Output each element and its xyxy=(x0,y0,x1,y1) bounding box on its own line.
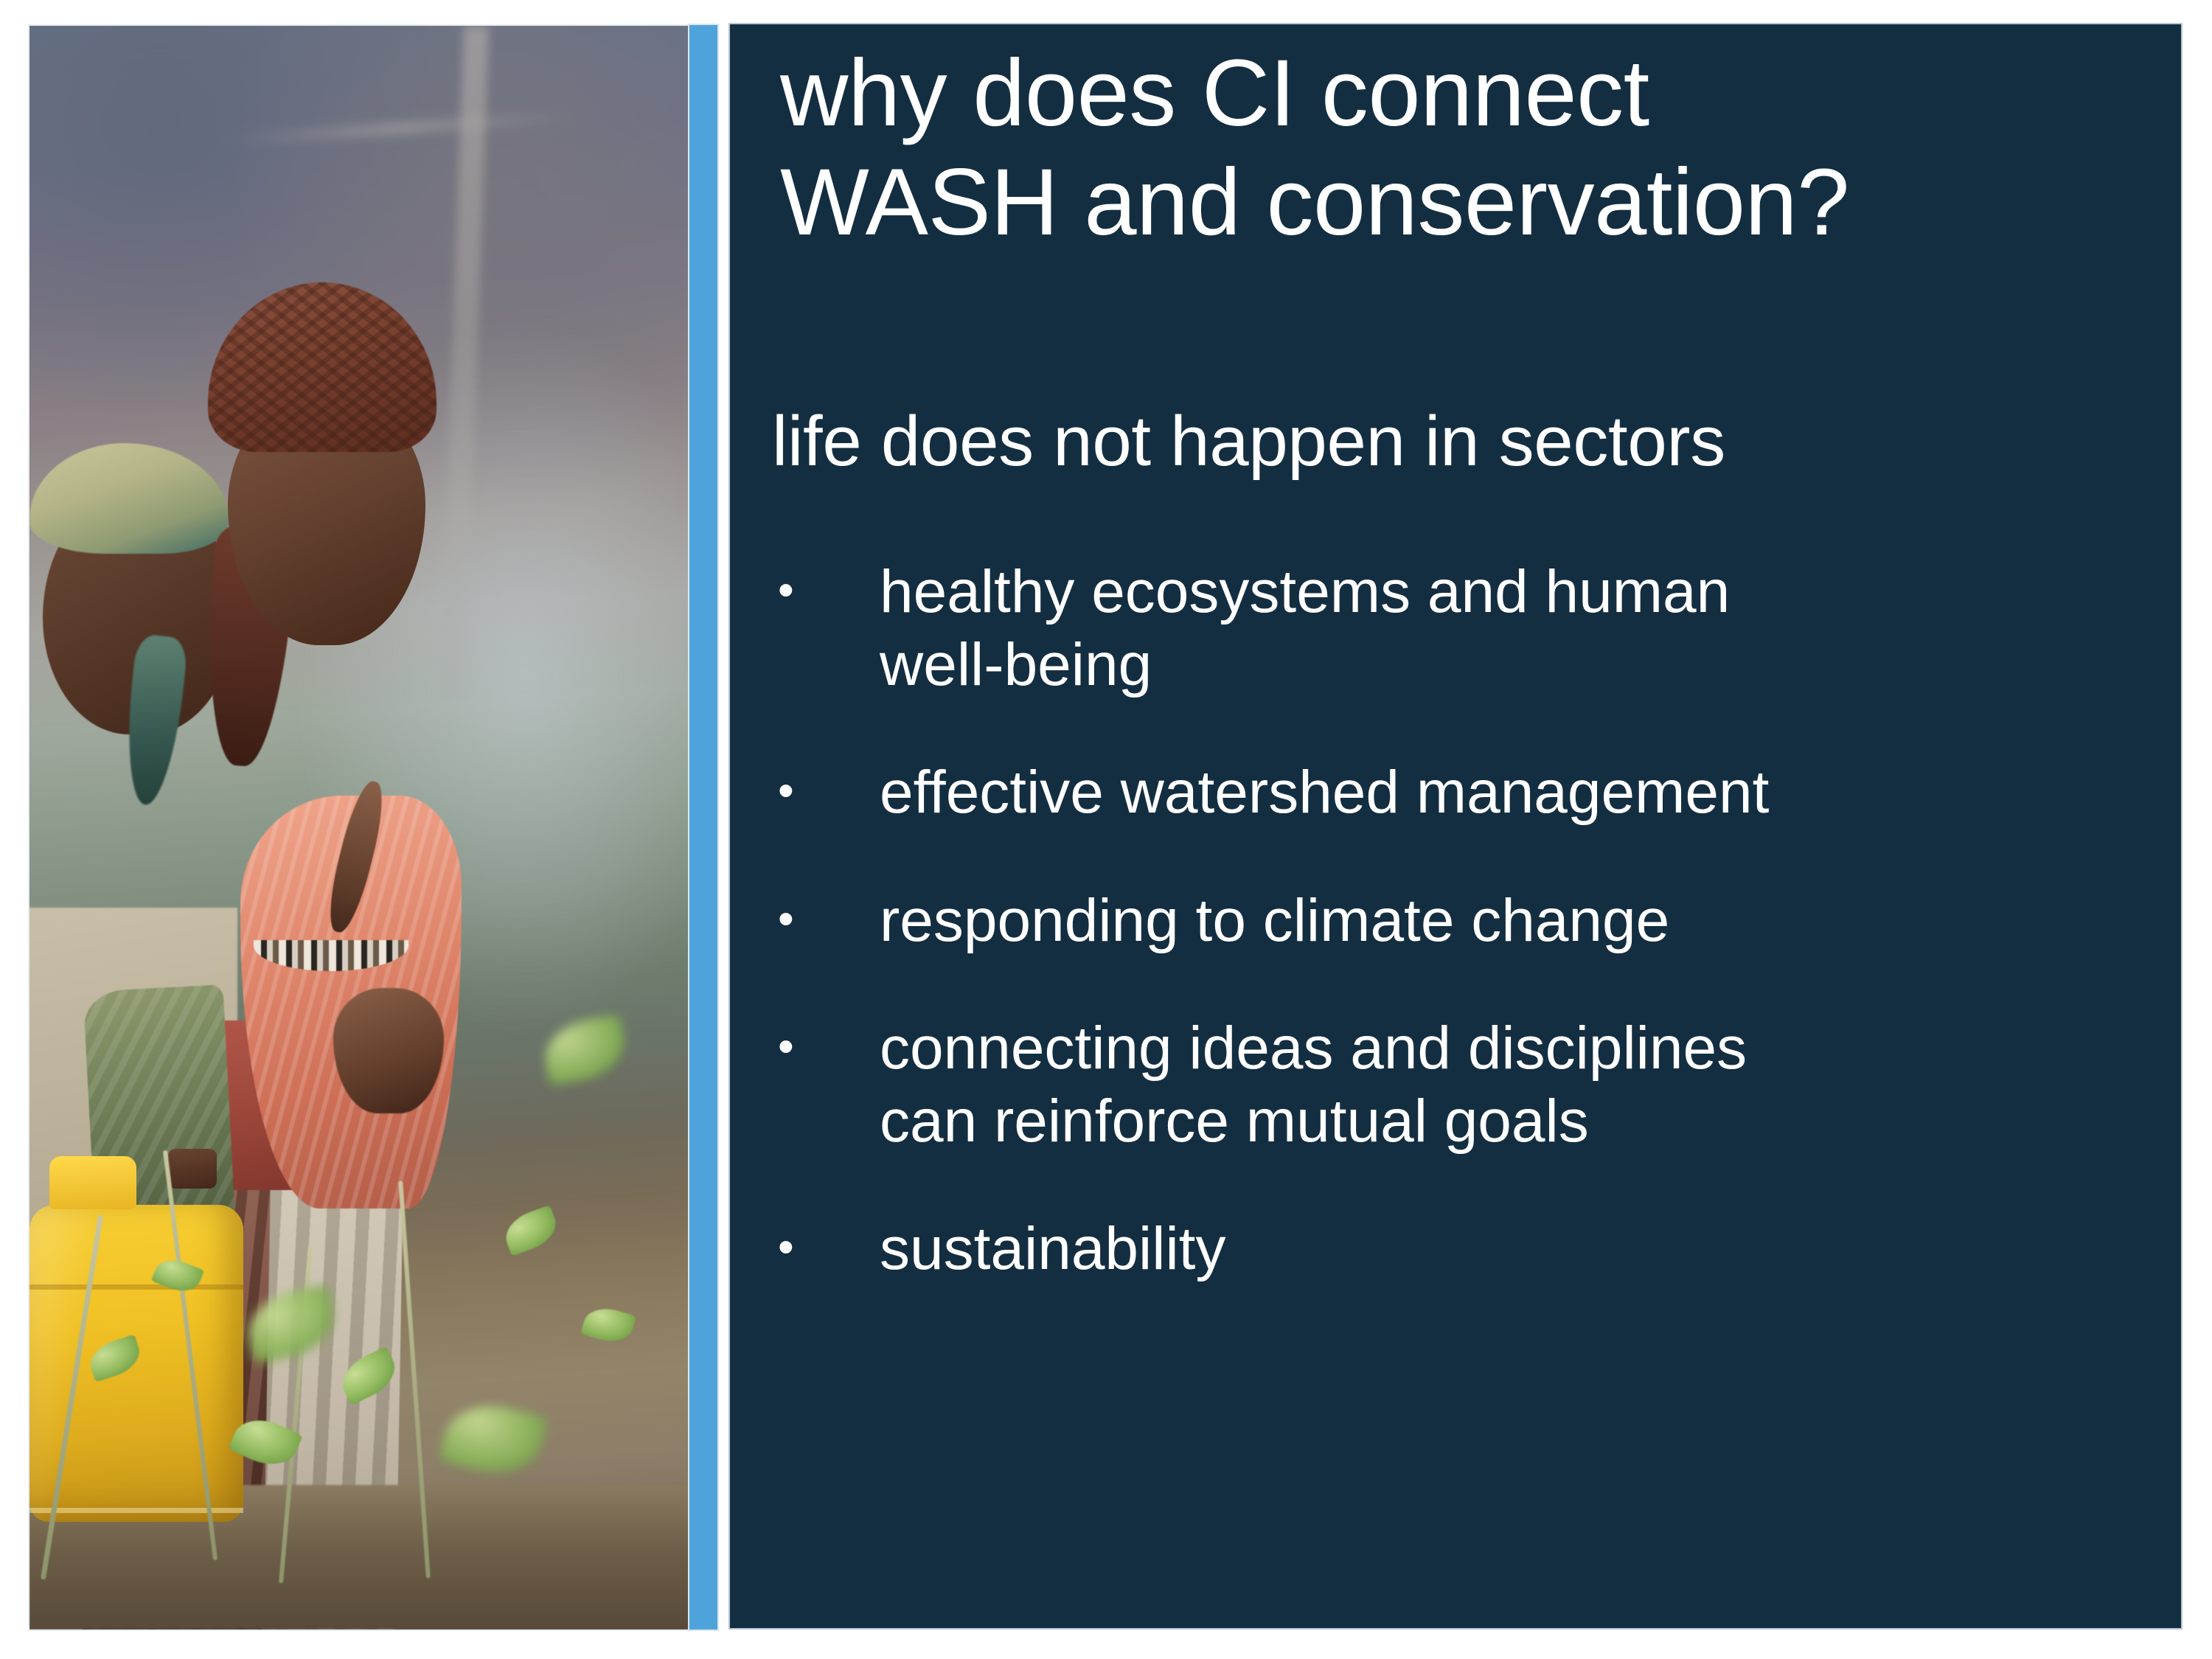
photo-jerrycan-handle xyxy=(168,1149,217,1189)
slide-title: why does CI connect WASH and conservatio… xyxy=(780,39,2166,258)
list-item-label: responding to climate change xyxy=(880,884,2008,957)
bullet-dot-icon: • xyxy=(772,555,880,626)
photo-jerrycan-ridge-upper xyxy=(29,1284,243,1290)
list-item: • connecting ideas and disciplines can r… xyxy=(772,1012,2166,1158)
list-item-label: healthy ecosystems and human well-being xyxy=(880,555,2008,701)
list-item: • sustainability xyxy=(772,1212,2166,1285)
slide-subtitle: life does not happen in sectors xyxy=(772,402,2158,481)
photo-jerrycan-cap xyxy=(49,1156,136,1209)
bullet-dot-icon: • xyxy=(772,1012,880,1082)
bullet-dot-icon: • xyxy=(772,756,880,827)
bullet-list: • healthy ecosystems and human well-bein… xyxy=(772,555,2166,1340)
list-item-label: sustainability xyxy=(880,1212,2008,1285)
content-panel: why does CI connect WASH and conservatio… xyxy=(730,24,2181,1628)
slide-canvas: why does CI connect WASH and conservatio… xyxy=(0,0,2212,1659)
list-item-label: connecting ideas and disciplines can rei… xyxy=(880,1012,2008,1158)
list-item: • healthy ecosystems and human well-bein… xyxy=(772,555,2166,701)
photo-front-child-hand xyxy=(333,988,444,1113)
bullet-dot-icon: • xyxy=(772,1212,880,1283)
slide-photo xyxy=(29,26,689,1630)
list-item: • effective watershed management xyxy=(772,756,2166,829)
list-item: • responding to climate change xyxy=(772,884,2166,957)
list-item-label: effective watershed management xyxy=(880,756,2008,829)
accent-divider-bar xyxy=(689,25,717,1630)
bullet-dot-icon: • xyxy=(772,884,880,955)
